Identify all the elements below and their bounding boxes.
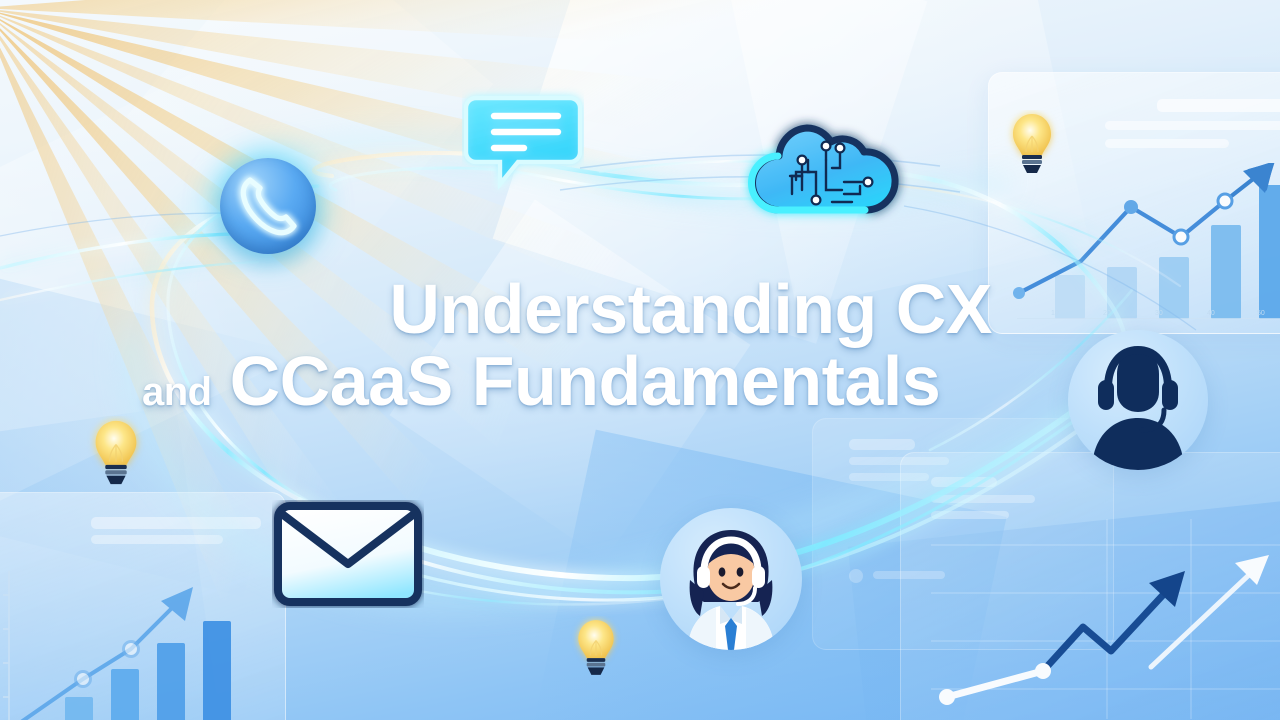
primary-trend <box>947 595 1163 697</box>
envelope-icon <box>272 500 424 608</box>
phone-handset-glyph <box>220 158 316 254</box>
chat-bubble-icon <box>462 86 584 196</box>
lightbulb-glyph <box>570 616 622 678</box>
axis-tick-labels: 1020 3040 50 <box>1051 310 1265 317</box>
title-line-2: CCaaS Fundamentals <box>230 342 941 420</box>
bar-series <box>1055 185 1280 319</box>
analytics-card-bottom-right <box>900 452 1280 720</box>
lightbulb-icon-bottom-center <box>570 616 622 678</box>
ai-cloud-icon <box>740 98 910 238</box>
agent-avatar-icon <box>660 508 802 650</box>
phone-icon <box>220 158 316 254</box>
trend-line <box>11 601 179 720</box>
envelope-glyph <box>272 500 424 608</box>
bottom-left-growth-chart: 5040 3020 10 <box>0 557 281 720</box>
lightbulb-glyph <box>86 416 146 488</box>
svg-text:30: 30 <box>1155 310 1163 317</box>
bottom-right-trend-chart <box>901 499 1280 720</box>
page-title: Understanding CX and CCaaS Fundamentals <box>140 272 1060 421</box>
svg-text:50: 50 <box>1257 310 1265 317</box>
title-line-1: Understanding CX <box>389 272 992 346</box>
svg-text:20: 20 <box>1103 310 1111 317</box>
svg-text:40: 40 <box>1207 310 1215 317</box>
lightbulb-icon-top-right <box>1004 110 1060 176</box>
chat-bubble-glyph <box>462 86 584 196</box>
secondary-trend <box>1151 573 1251 667</box>
agent-avatar-glyph <box>660 508 802 650</box>
hero-banner: 1020 3040 50 5040 3020 10 <box>0 0 1280 720</box>
analytics-card-bottom-left: 5040 3020 10 <box>0 492 286 720</box>
ai-cloud-glyph <box>740 98 910 238</box>
title-line-2-prefix: and <box>142 363 212 421</box>
lightbulb-icon-mid-left <box>86 416 146 488</box>
bar-series <box>19 621 231 720</box>
lightbulb-glyph <box>1004 110 1060 176</box>
background-facet <box>848 495 1280 720</box>
headset-user-glyph <box>1068 330 1208 470</box>
headset-user-icon <box>1068 330 1208 470</box>
